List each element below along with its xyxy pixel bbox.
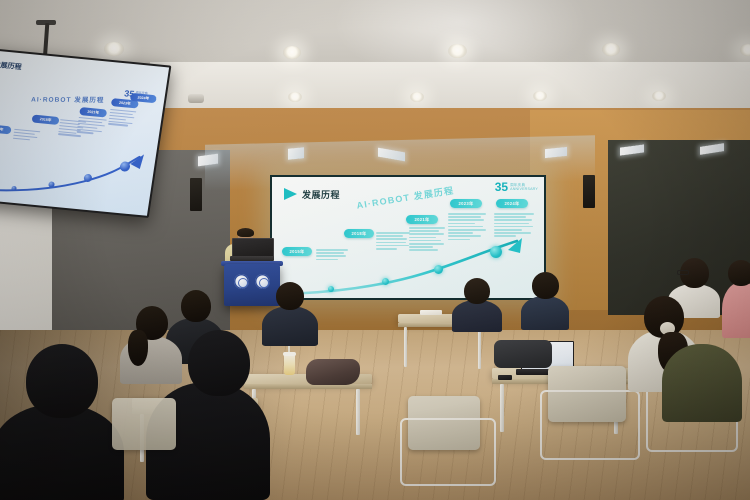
ceiling-downlight [448, 44, 467, 58]
slide-watermark: AI·ROBOT 发展历程 [356, 183, 455, 211]
slide-canvas: 发展历程 AI·ROBOT 发展历程 35 周年庆典 ANNIVERSARY 2… [272, 177, 544, 298]
tv-milestone-block [76, 117, 106, 137]
ponytail [128, 330, 148, 366]
ceiling-downlight [104, 42, 124, 56]
audience-head [276, 282, 304, 310]
curve-node [490, 246, 502, 258]
ceiling-downlight [602, 43, 620, 56]
ceiling-soffit [150, 62, 750, 114]
milestone-block [494, 213, 534, 239]
wall-strip-light [288, 147, 304, 159]
year-pill: 2024年 [496, 199, 528, 208]
ceiling-downlight [283, 46, 301, 59]
anniversary-text-en: ANNIVERSARY [510, 187, 538, 191]
audience-head [188, 330, 250, 396]
audience-shoulders [262, 306, 318, 346]
play-triangle-icon [284, 188, 297, 200]
presenter-hair [237, 228, 254, 237]
audience-shoulders [0, 404, 124, 500]
chair-frame [400, 418, 496, 486]
audience-head [728, 260, 750, 286]
audience-head [181, 290, 211, 322]
year-pill: 2023年 [450, 199, 482, 208]
audience-shoulders [662, 344, 742, 422]
ceiling-downlight [533, 91, 547, 101]
tv-watermark: AI·ROBOT 发展历程 [31, 94, 105, 105]
tv-year-pill: 2015年 [0, 124, 12, 135]
eyeglasses-icon [677, 270, 689, 275]
curve-node [382, 278, 389, 285]
projection-screen: 发展历程 AI·ROBOT 发展历程 35 周年庆典 ANNIVERSARY 2… [270, 175, 546, 300]
coat-on-desk [306, 359, 360, 385]
audience-head [532, 272, 559, 299]
tv-slide-title: 发展历程 [0, 60, 22, 73]
podium [224, 264, 280, 306]
podium-emblem [234, 274, 249, 289]
desk-edge [244, 384, 372, 389]
conference-room-photo: 发展历程 AI·ROBOT 发展历程 35 周年庆典 ANNIVERSARY 2… [0, 0, 750, 500]
tv-year-pill: 2021年 [79, 107, 107, 118]
podium-emblem [255, 274, 270, 289]
anniversary-logo: 35 周年庆典 ANNIVERSARY [495, 181, 538, 193]
ceiling-downlight [288, 92, 302, 102]
audience-shoulders [722, 282, 750, 338]
growth-curve-svg [272, 236, 544, 298]
projector-mount [188, 94, 204, 103]
tv-milestone-block [108, 109, 136, 129]
backpack-on-desk [494, 340, 552, 368]
tv-year-pill: 2018年 [31, 115, 59, 126]
anniversary-number: 35 [495, 181, 508, 193]
phone-on-desk [498, 375, 512, 380]
wall-speaker-box [190, 178, 202, 211]
tv-screen: 发展历程 AI·ROBOT 发展历程 35 周年庆典 ANNIVERSARY 2… [0, 50, 169, 216]
wall-speaker-box [583, 175, 595, 208]
chair-back [112, 398, 176, 450]
desk-leg [404, 327, 407, 367]
wall-mounted-tv: 发展历程 AI·ROBOT 发展历程 35 周年庆典 ANNIVERSARY 2… [0, 48, 171, 218]
chair-frame [540, 390, 640, 460]
audience-head [26, 344, 98, 418]
year-pill: 2021年 [406, 215, 438, 224]
ceiling-downlight [410, 92, 424, 102]
desk-leg [478, 327, 481, 369]
drink-cup-lid [283, 352, 296, 356]
audience-shoulders [521, 296, 569, 330]
drink-cup [284, 355, 295, 375]
paper-on-desk [420, 310, 442, 315]
ceiling-downlight [740, 44, 750, 56]
desk-leg [356, 389, 360, 435]
ceiling-downlight [652, 91, 666, 101]
audience-head [464, 278, 490, 304]
audience-shoulders [452, 300, 502, 332]
slide-title: 发展历程 [302, 188, 340, 201]
growth-curve-chart [272, 236, 544, 298]
curve-node [328, 286, 334, 292]
curve-node [434, 265, 443, 274]
tv-growth-curve-svg [0, 135, 156, 212]
desk-leg [500, 384, 504, 432]
